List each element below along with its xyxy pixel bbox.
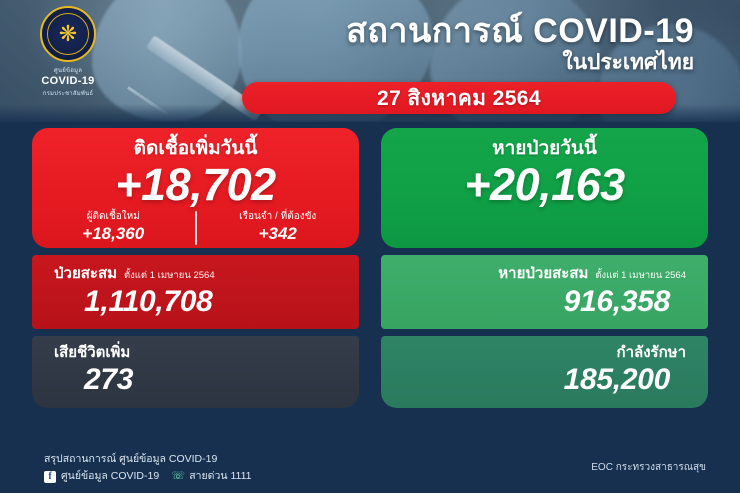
new-cases-breakdown: ผู้ติดเชื้อใหม่ +18,360 เรือนจำ / ที่ต้อ… <box>32 211 359 245</box>
footer-bar: สรุปสถานการณ์ ศูนย์ข้อมูล COVID-19 f ศูน… <box>0 444 740 493</box>
card-under-treatment: กำลังรักษา 185,200 <box>381 336 708 408</box>
seal-inner-ring: ❋ <box>47 13 89 55</box>
card-new-cases-today: ติดเชื้อเพิ่มวันนี้ +18,702 ผู้ติดเชื้อใ… <box>32 128 359 248</box>
footer-summary-text: สรุปสถานการณ์ ศูนย์ข้อมูล COVID-19 <box>44 452 251 468</box>
stats-row-deaths-treatment: เสียชีวิตเพิ่ม 273 กำลังรักษา 185,200 <box>32 336 708 408</box>
card-deaths: เสียชีวิตเพิ่ม 273 <box>32 336 359 408</box>
date-text: 27 สิงหาคม 2564 <box>377 82 541 115</box>
breakdown-item-community: ผู้ติดเชื้อใหม่ +18,360 <box>32 211 195 244</box>
under-treatment-label: กำลังรักษา <box>617 344 686 363</box>
hotline-label: สายด่วน 1111 <box>189 469 251 485</box>
card-recovered-title: หายป่วยวันนี้ <box>492 138 597 161</box>
card-recovered-value: +20,163 <box>464 161 624 210</box>
breakdown-item-prison: เรือนจำ / ที่ต้องขัง +342 <box>197 211 360 244</box>
deaths-label: เสียชีวิตเพิ่ม <box>54 344 130 363</box>
card-cumulative-recovered: หายป่วยสะสม ตั้งแต่ 1 เมษายน 2564 916,35… <box>381 255 708 329</box>
card-new-cases-value: +18,702 <box>115 161 275 210</box>
cumulative-recovered-heading: หายป่วยสะสม ตั้งแต่ 1 เมษายน 2564 <box>498 261 686 285</box>
page-title: สถานการณ์ COVID-19 ในประเทศไทย <box>346 14 694 74</box>
logo-caption-bottom: กรมประชาสัมพันธ์ <box>22 88 114 98</box>
footer-left-block: สรุปสถานการณ์ ศูนย์ข้อมูล COVID-19 f ศูน… <box>44 452 251 485</box>
title-main-text: สถานการณ์ COVID-19 <box>346 14 694 50</box>
cumulative-recovered-value: 916,358 <box>564 285 686 319</box>
date-badge: 27 สิงหาคม 2564 <box>242 82 676 114</box>
cumulative-cases-heading: ป่วยสะสม ตั้งแต่ 1 เมษายน 2564 <box>54 261 215 285</box>
title-sub-text: ในประเทศไทย <box>346 51 694 74</box>
deaths-value: 273 <box>54 363 133 398</box>
stats-row-today: ติดเชื้อเพิ่มวันนี้ +18,702 ผู้ติดเชื้อใ… <box>32 128 708 248</box>
breakdown-label: ผู้ติดเชื้อใหม่ <box>87 211 140 224</box>
cumulative-cases-value: 1,110,708 <box>54 285 213 319</box>
footer-source-label: EOC กระทรวงสาธารณสุข <box>591 460 706 475</box>
breakdown-label: เรือนจำ / ที่ต้องขัง <box>239 211 316 224</box>
garuda-glyph-icon: ❋ <box>59 23 77 45</box>
facebook-page-label[interactable]: ศูนย์ข้อมูล COVID-19 <box>61 469 159 485</box>
cumulative-recovered-label: หายป่วยสะสม <box>498 261 588 285</box>
covid-dashboard-poster: ❋ ศูนย์ข้อมูล COVID-19 กรมประชาสัมพันธ์ … <box>0 0 740 493</box>
card-cumulative-cases: ป่วยสะสม ตั้งแต่ 1 เมษายน 2564 1,110,708 <box>32 255 359 329</box>
logo-caption-top: ศูนย์ข้อมูล <box>22 65 114 75</box>
breakdown-value: +18,360 <box>82 224 144 244</box>
facebook-icon[interactable]: f <box>44 471 56 483</box>
under-treatment-value: 185,200 <box>564 363 686 398</box>
logo-caption-main: COVID-19 <box>22 75 114 88</box>
cumulative-recovered-since: ตั้งแต่ 1 เมษายน 2564 <box>595 268 686 283</box>
organization-logo: ❋ ศูนย์ข้อมูล COVID-19 กรมประชาสัมพันธ์ <box>22 6 114 98</box>
cumulative-cases-label: ป่วยสะสม <box>54 261 117 285</box>
breakdown-value: +342 <box>259 224 297 244</box>
phone-icon: ☏ <box>172 471 184 483</box>
cumulative-cases-since: ตั้งแต่ 1 เมษายน 2564 <box>124 268 215 283</box>
footer-contact-row: f ศูนย์ข้อมูล COVID-19 ☏ สายด่วน 1111 <box>44 469 251 485</box>
card-recovered-today: หายป่วยวันนี้ +20,163 <box>381 128 708 248</box>
stats-row-cumulative: ป่วยสะสม ตั้งแต่ 1 เมษายน 2564 1,110,708… <box>32 255 708 329</box>
card-new-cases-title: ติดเชื้อเพิ่มวันนี้ <box>134 138 258 161</box>
stats-grid: ติดเชื้อเพิ่มวันนี้ +18,702 ผู้ติดเชื้อใ… <box>0 122 740 444</box>
thai-garuda-seal-icon: ❋ <box>40 6 96 62</box>
